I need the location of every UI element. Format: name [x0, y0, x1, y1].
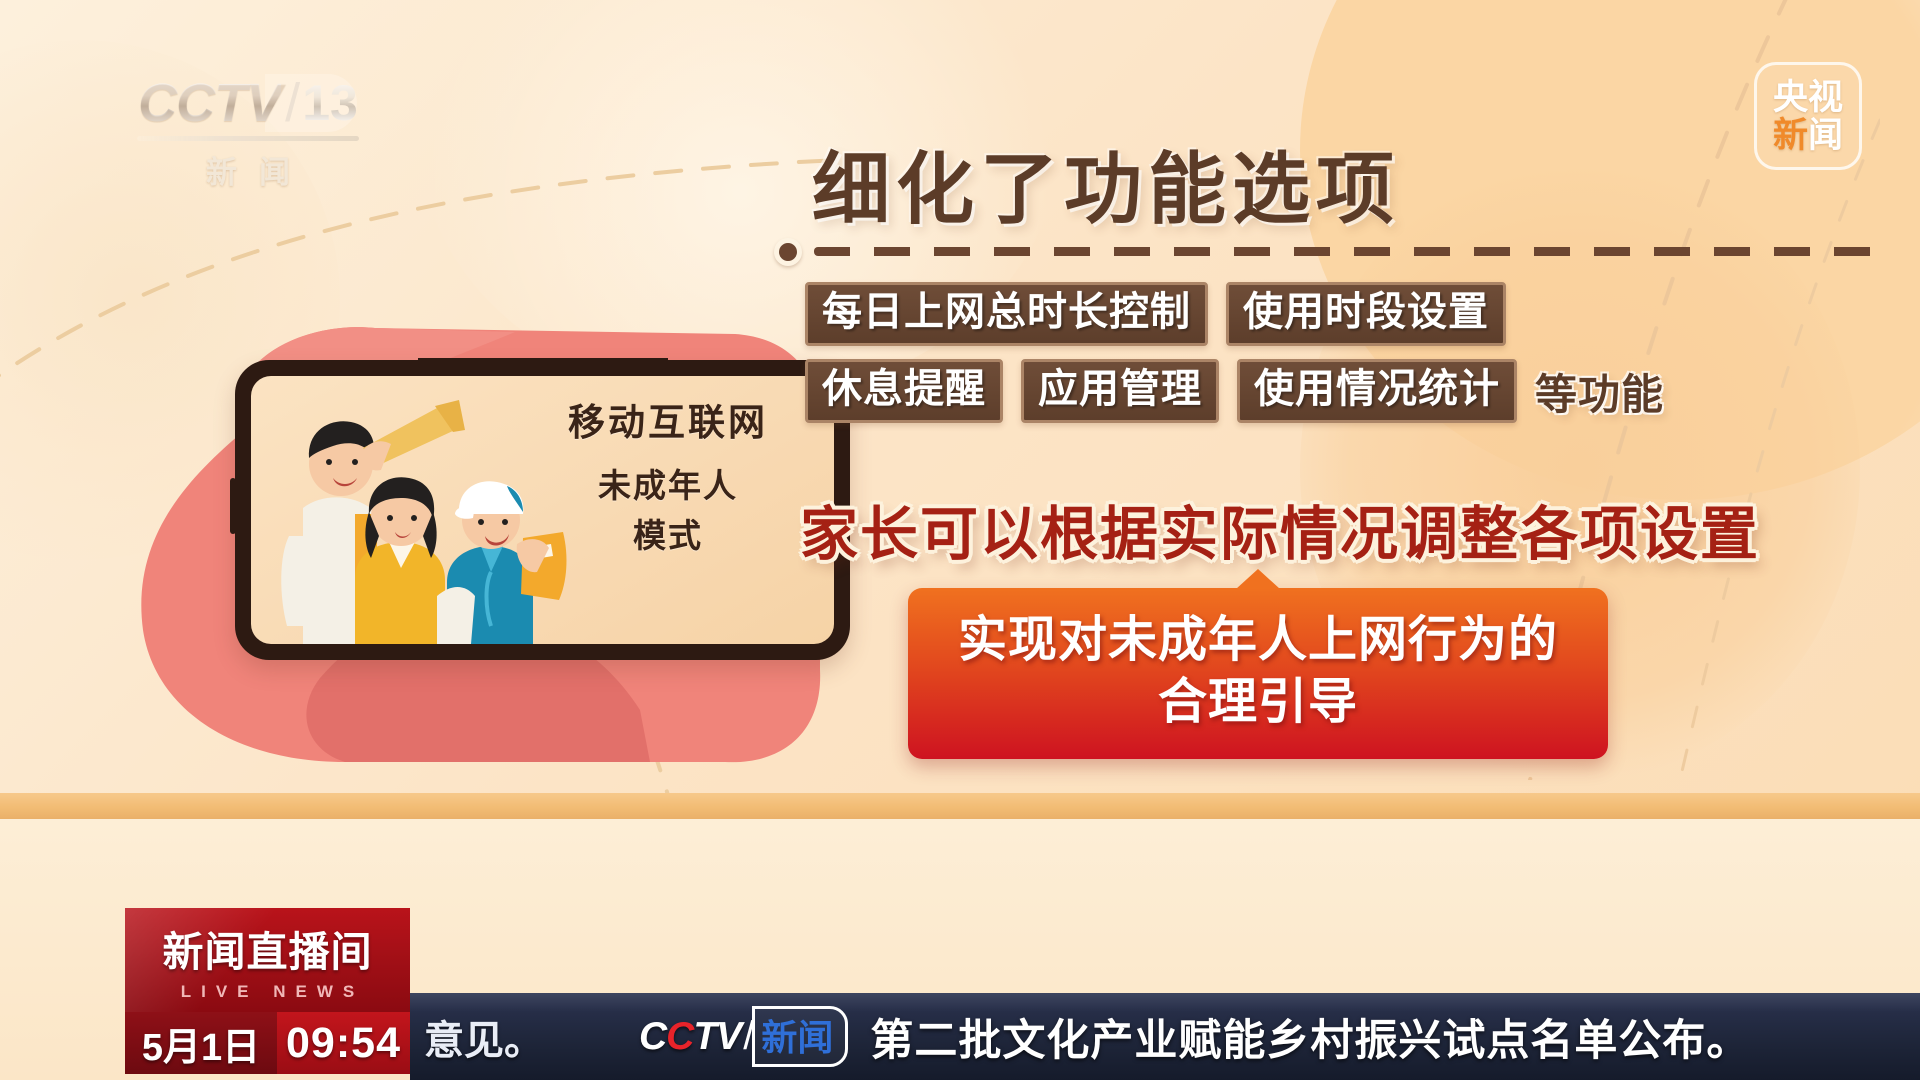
- feature-suffix-etc: 等功能: [1535, 361, 1664, 422]
- children-illustration: [259, 386, 569, 644]
- broadcast-date: 5月1日: [125, 1012, 277, 1074]
- phone-screen: 移动互联网 未成年人 模式: [251, 376, 834, 644]
- phone-screen-caption: 移动互联网 未成年人 模式: [528, 398, 808, 558]
- watermark-char-yang: 央: [1773, 80, 1808, 115]
- headline-block: 细化了功能选项: [770, 150, 1880, 266]
- feature-chip-daily-time-limit[interactable]: 每日上网总时长控制: [805, 282, 1208, 346]
- phone-caption-line-2: 未成年人: [528, 464, 808, 508]
- program-logo-block: 新闻直播间 LIVE NEWS 5月1日 09:54: [125, 908, 410, 1074]
- watermark-char-xin: 新: [1773, 118, 1808, 153]
- page-title: 细化了功能选项: [770, 150, 1880, 230]
- watermark-row-top: 央 视: [1773, 80, 1843, 115]
- broadcast-time: 09:54: [277, 1012, 410, 1074]
- ticker-headline-text: 第二批文化产业赋能乡村振兴试点名单公布。: [870, 1006, 1750, 1068]
- phone-in-hand-illustration: 移动互联网 未成年人 模式: [60, 250, 850, 810]
- feature-tag-row-2: 休息提醒 应用管理 使用情况统计 等功能: [805, 359, 1905, 423]
- feature-chip-app-management[interactable]: 应用管理: [1021, 359, 1219, 423]
- callout-line-2: 合理引导: [928, 672, 1588, 734]
- broadcast-screen: 移动互联网 未成年人 模式 CCTV / 13 新闻 央 视 新 闻 细化: [0, 0, 1920, 1080]
- ticker-previous-item-tail: 意见。: [424, 1008, 544, 1066]
- phone-caption-line-3: 模式: [528, 514, 808, 558]
- feature-chip-usage-statistics[interactable]: 使用情况统计: [1237, 359, 1517, 423]
- dashed-rule: [814, 247, 1880, 256]
- phone-caption-line-1: 移动互联网: [528, 398, 808, 448]
- ticker-letter-c1: C: [639, 1015, 666, 1059]
- program-clock: 5月1日 09:54: [125, 1012, 410, 1074]
- callout-line-1: 实现对未成年人上网行为的: [928, 610, 1588, 672]
- news-ticker-bar: 意见。 CCTV / 新闻 第二批文化产业赋能乡村振兴试点名单公布。: [410, 993, 1920, 1080]
- feature-chip-time-window-setting[interactable]: 使用时段设置: [1226, 282, 1506, 346]
- cctv13-letters: CCTV: [138, 72, 281, 134]
- ticker-cctv-news-badge: CCTV / 新闻: [639, 1006, 848, 1067]
- program-name-chinese: 新闻直播间: [163, 918, 373, 978]
- cctv13-wordmark: CCTV / 13: [133, 72, 363, 134]
- cctv13-underline-bar: [137, 136, 359, 141]
- ticker-badge-xinwen: 新闻: [752, 1006, 848, 1067]
- feature-tag-row-1: 每日上网总时长控制 使用时段设置: [805, 282, 1905, 346]
- program-badge: 新闻直播间 LIVE NEWS: [125, 908, 410, 1012]
- phone-speaker-notch: [418, 358, 668, 370]
- phone-side-button: [230, 478, 236, 534]
- cctv13-chinese-label: 新闻: [133, 147, 363, 192]
- watermark-char-shi: 视: [1808, 80, 1843, 115]
- headline-divider: [774, 238, 1880, 266]
- smartphone-device: 移动互联网 未成年人 模式: [235, 360, 850, 660]
- cctv13-slash: /: [285, 72, 300, 134]
- ticker-letter-c2-red: C: [666, 1015, 693, 1059]
- callout-arrow-icon: [1236, 569, 1280, 589]
- feature-chip-rest-reminder[interactable]: 休息提醒: [805, 359, 1003, 423]
- channel-logo-cctv13: CCTV / 13 新闻: [133, 72, 363, 192]
- ticker-letters-tv: TV: [693, 1015, 741, 1059]
- emphasis-headline: 家长可以根据实际情况调整各项设置: [800, 487, 1760, 571]
- watermark-row-bottom: 新 闻: [1773, 118, 1843, 153]
- ticker-cctv-letters: CCTV: [639, 1015, 741, 1059]
- bullet-dot-icon: [774, 238, 802, 266]
- feature-tags-area: 每日上网总时长控制 使用时段设置 休息提醒 应用管理 使用情况统计 等功能: [805, 282, 1905, 423]
- watermark-char-wen: 闻: [1808, 118, 1843, 153]
- conclusion-callout-box: 实现对未成年人上网行为的 合理引导: [908, 588, 1608, 759]
- program-name-english: LIVE NEWS: [171, 982, 365, 1002]
- cctv13-channel-number: 13: [302, 74, 358, 132]
